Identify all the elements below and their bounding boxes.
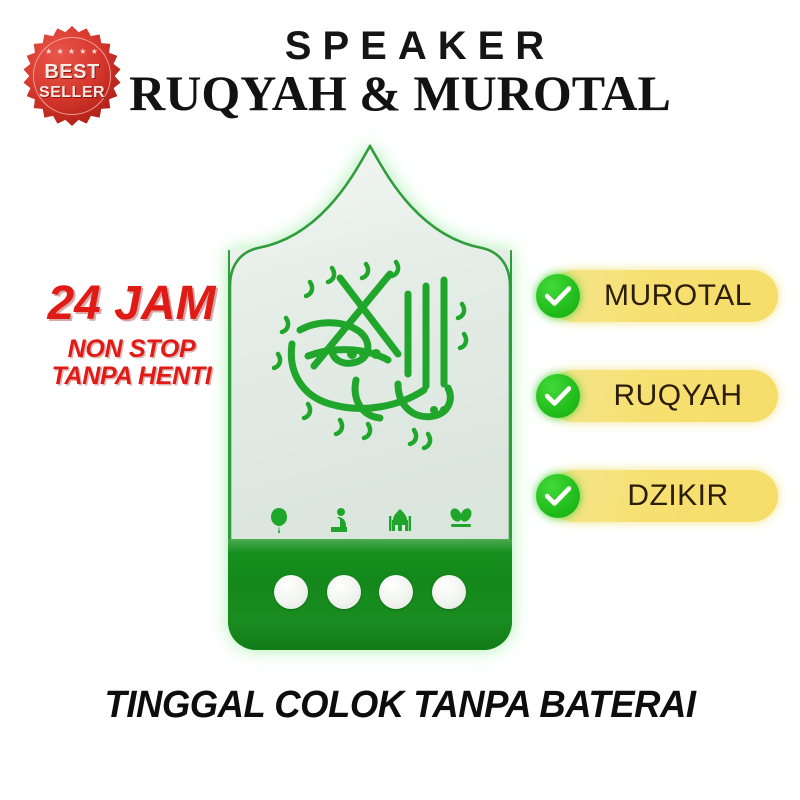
- page-title: RUQYAH & MUROTAL: [0, 66, 800, 121]
- quran-speaker-device: [228, 144, 512, 650]
- device-button-2[interactable]: [327, 575, 361, 609]
- promo-headline: 24 JAM: [24, 280, 239, 328]
- device-button-row: [274, 575, 466, 609]
- feature-pill-label: RUQYAH: [592, 370, 764, 422]
- device-base: [228, 539, 512, 650]
- footer-tagline: TINGGAL COLOK TANPA BATERAI: [16, 686, 784, 724]
- check-circle-icon: [536, 474, 580, 518]
- check-circle-icon: [536, 274, 580, 318]
- feature-pill-label: DZIKIR: [592, 470, 764, 522]
- feature-pill-ruqyah: RUQYAH: [548, 370, 778, 422]
- check-circle-icon: [536, 374, 580, 418]
- device-button-3[interactable]: [379, 575, 413, 609]
- device-icon-row: [258, 504, 482, 534]
- feature-pill-murotal: MUROTAL: [548, 270, 778, 322]
- header-kicker: SPEAKER: [0, 26, 800, 66]
- promo-block: 24 JAM NON STOP TANPA HENTI: [24, 280, 239, 390]
- feature-pill-label: MUROTAL: [592, 270, 764, 322]
- praying-person-icon: [327, 506, 353, 534]
- device-button-4[interactable]: [432, 575, 466, 609]
- product-promo-banner: ★ ★ ★ ★ ★ BEST SELLER SPEAKER RUQYAH & M…: [0, 0, 800, 800]
- promo-subline-2: TANPA HENTI: [24, 363, 239, 390]
- device-button-1[interactable]: [274, 575, 308, 609]
- mosque-icon: [387, 506, 413, 534]
- flower-icon: [448, 506, 474, 534]
- feature-pill-dzikir: DZIKIR: [548, 470, 778, 522]
- promo-subline-1: NON STOP: [24, 336, 239, 363]
- balloon-icon: [266, 506, 292, 534]
- quran-calligraphy: [248, 234, 492, 454]
